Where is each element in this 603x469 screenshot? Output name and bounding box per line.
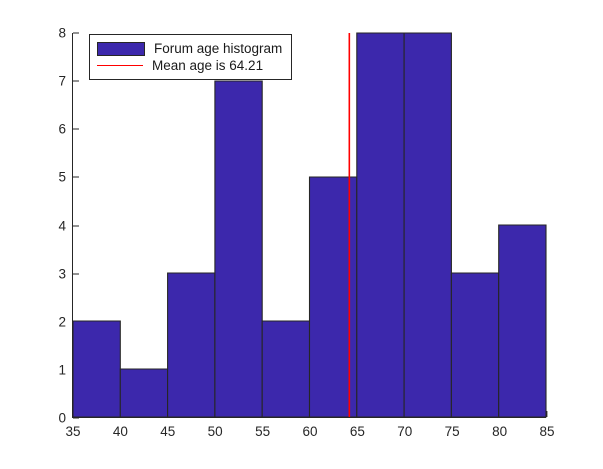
legend: Forum age histogram Mean age is 64.21: [89, 34, 292, 80]
y-tick-label: 8: [58, 26, 66, 40]
x-tick-label: 80: [492, 425, 507, 439]
figure-canvas: 012345678 3540455055606570758085 Forum a…: [0, 0, 603, 469]
legend-label-histogram: Forum age histogram: [154, 42, 282, 56]
mean-line-overlay: [73, 33, 546, 417]
y-tick-label: 4: [58, 219, 66, 233]
legend-line-swatch: [97, 65, 143, 66]
y-tick-label: 5: [58, 171, 66, 185]
x-tick-label: 65: [350, 425, 365, 439]
y-tick-label: 0: [58, 411, 66, 425]
y-tick-label: 7: [58, 74, 66, 88]
x-tick-label: 50: [208, 425, 223, 439]
y-tick-label: 1: [58, 363, 66, 377]
x-tick-label: 55: [255, 425, 270, 439]
legend-label-mean: Mean age is 64.21: [152, 59, 263, 73]
x-tick-mark: [546, 411, 547, 417]
x-tick-label: 35: [65, 425, 80, 439]
x-tick-label: 75: [445, 425, 460, 439]
legend-patch-swatch: [97, 42, 145, 56]
x-tick-label: 85: [539, 425, 554, 439]
x-tick-label: 70: [397, 425, 412, 439]
x-tick-label: 40: [113, 425, 128, 439]
legend-entry-histogram: Forum age histogram: [97, 40, 282, 57]
y-tick-label: 3: [58, 267, 66, 281]
y-tick-mark: [73, 418, 79, 419]
legend-entry-mean: Mean age is 64.21: [97, 57, 282, 74]
plot-area: 012345678 3540455055606570758085 Forum a…: [72, 33, 546, 418]
x-tick-label: 45: [160, 425, 175, 439]
y-tick-label: 6: [58, 123, 66, 137]
x-tick-label: 60: [302, 425, 317, 439]
y-tick-label: 2: [58, 315, 66, 329]
